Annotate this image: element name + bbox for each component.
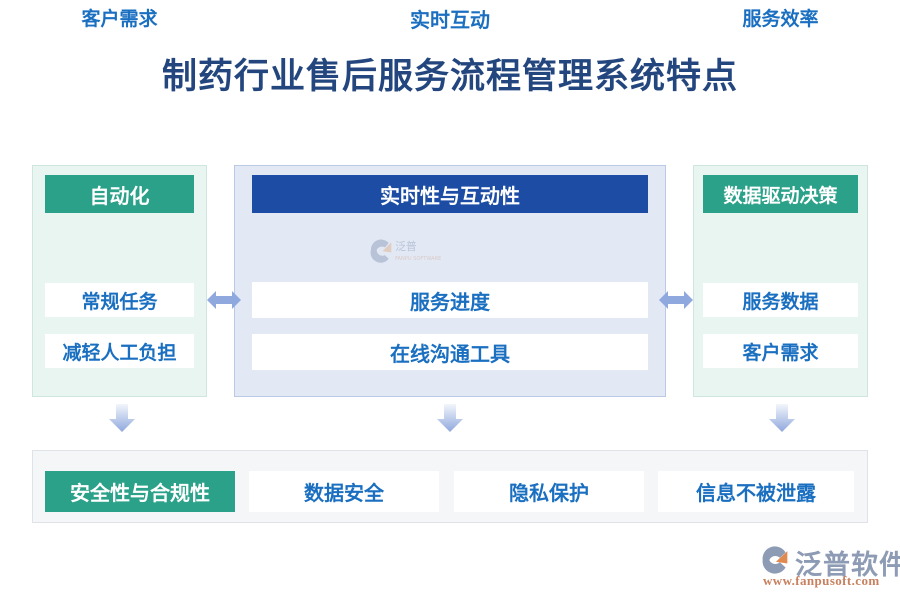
double-arrow-horizontal-icon xyxy=(206,286,242,314)
double-arrow-horizontal-icon xyxy=(658,286,694,314)
list-item[interactable]: 服务效率 xyxy=(703,0,858,34)
list-item[interactable]: 隐私保护 xyxy=(454,471,644,512)
list-item[interactable]: 客户需求 xyxy=(45,0,194,34)
arrow-down-icon xyxy=(434,402,466,434)
arrow-down-icon xyxy=(106,402,138,434)
column-header-data-driven[interactable]: 数据驱动决策 xyxy=(703,175,858,213)
list-item[interactable]: 客户需求 xyxy=(703,334,858,368)
list-item[interactable]: 信息不被泄露 xyxy=(658,471,854,512)
column-header-automation[interactable]: 自动化 xyxy=(45,175,194,213)
list-item[interactable]: 服务数据 xyxy=(703,283,858,317)
arrow-down-icon xyxy=(766,402,798,434)
list-item[interactable]: 在线沟通工具 xyxy=(252,334,648,370)
column-header-realtime[interactable]: 实时性与互动性 xyxy=(252,175,648,213)
fanpu-swoosh-logo-icon xyxy=(757,545,793,575)
infographic-canvas: 制药行业售后服务流程管理系统特点 自动化 常规任务 减轻人工负担 客户需求 实时… xyxy=(0,0,900,600)
page-title: 制药行业售后服务流程管理系统特点 xyxy=(0,48,900,99)
brand-url: www.fanpusoft.com xyxy=(763,573,880,589)
list-item[interactable]: 服务进度 xyxy=(252,282,648,318)
brand-logo: 泛普软件 www.fanpusoft.com xyxy=(757,543,897,591)
bottom-header-security[interactable]: 安全性与合规性 xyxy=(45,471,235,512)
list-item[interactable]: 实时互动 xyxy=(252,0,648,36)
list-item[interactable]: 常规任务 xyxy=(45,283,194,317)
list-item[interactable]: 减轻人工负担 xyxy=(45,334,194,368)
list-item[interactable]: 数据安全 xyxy=(249,471,439,512)
